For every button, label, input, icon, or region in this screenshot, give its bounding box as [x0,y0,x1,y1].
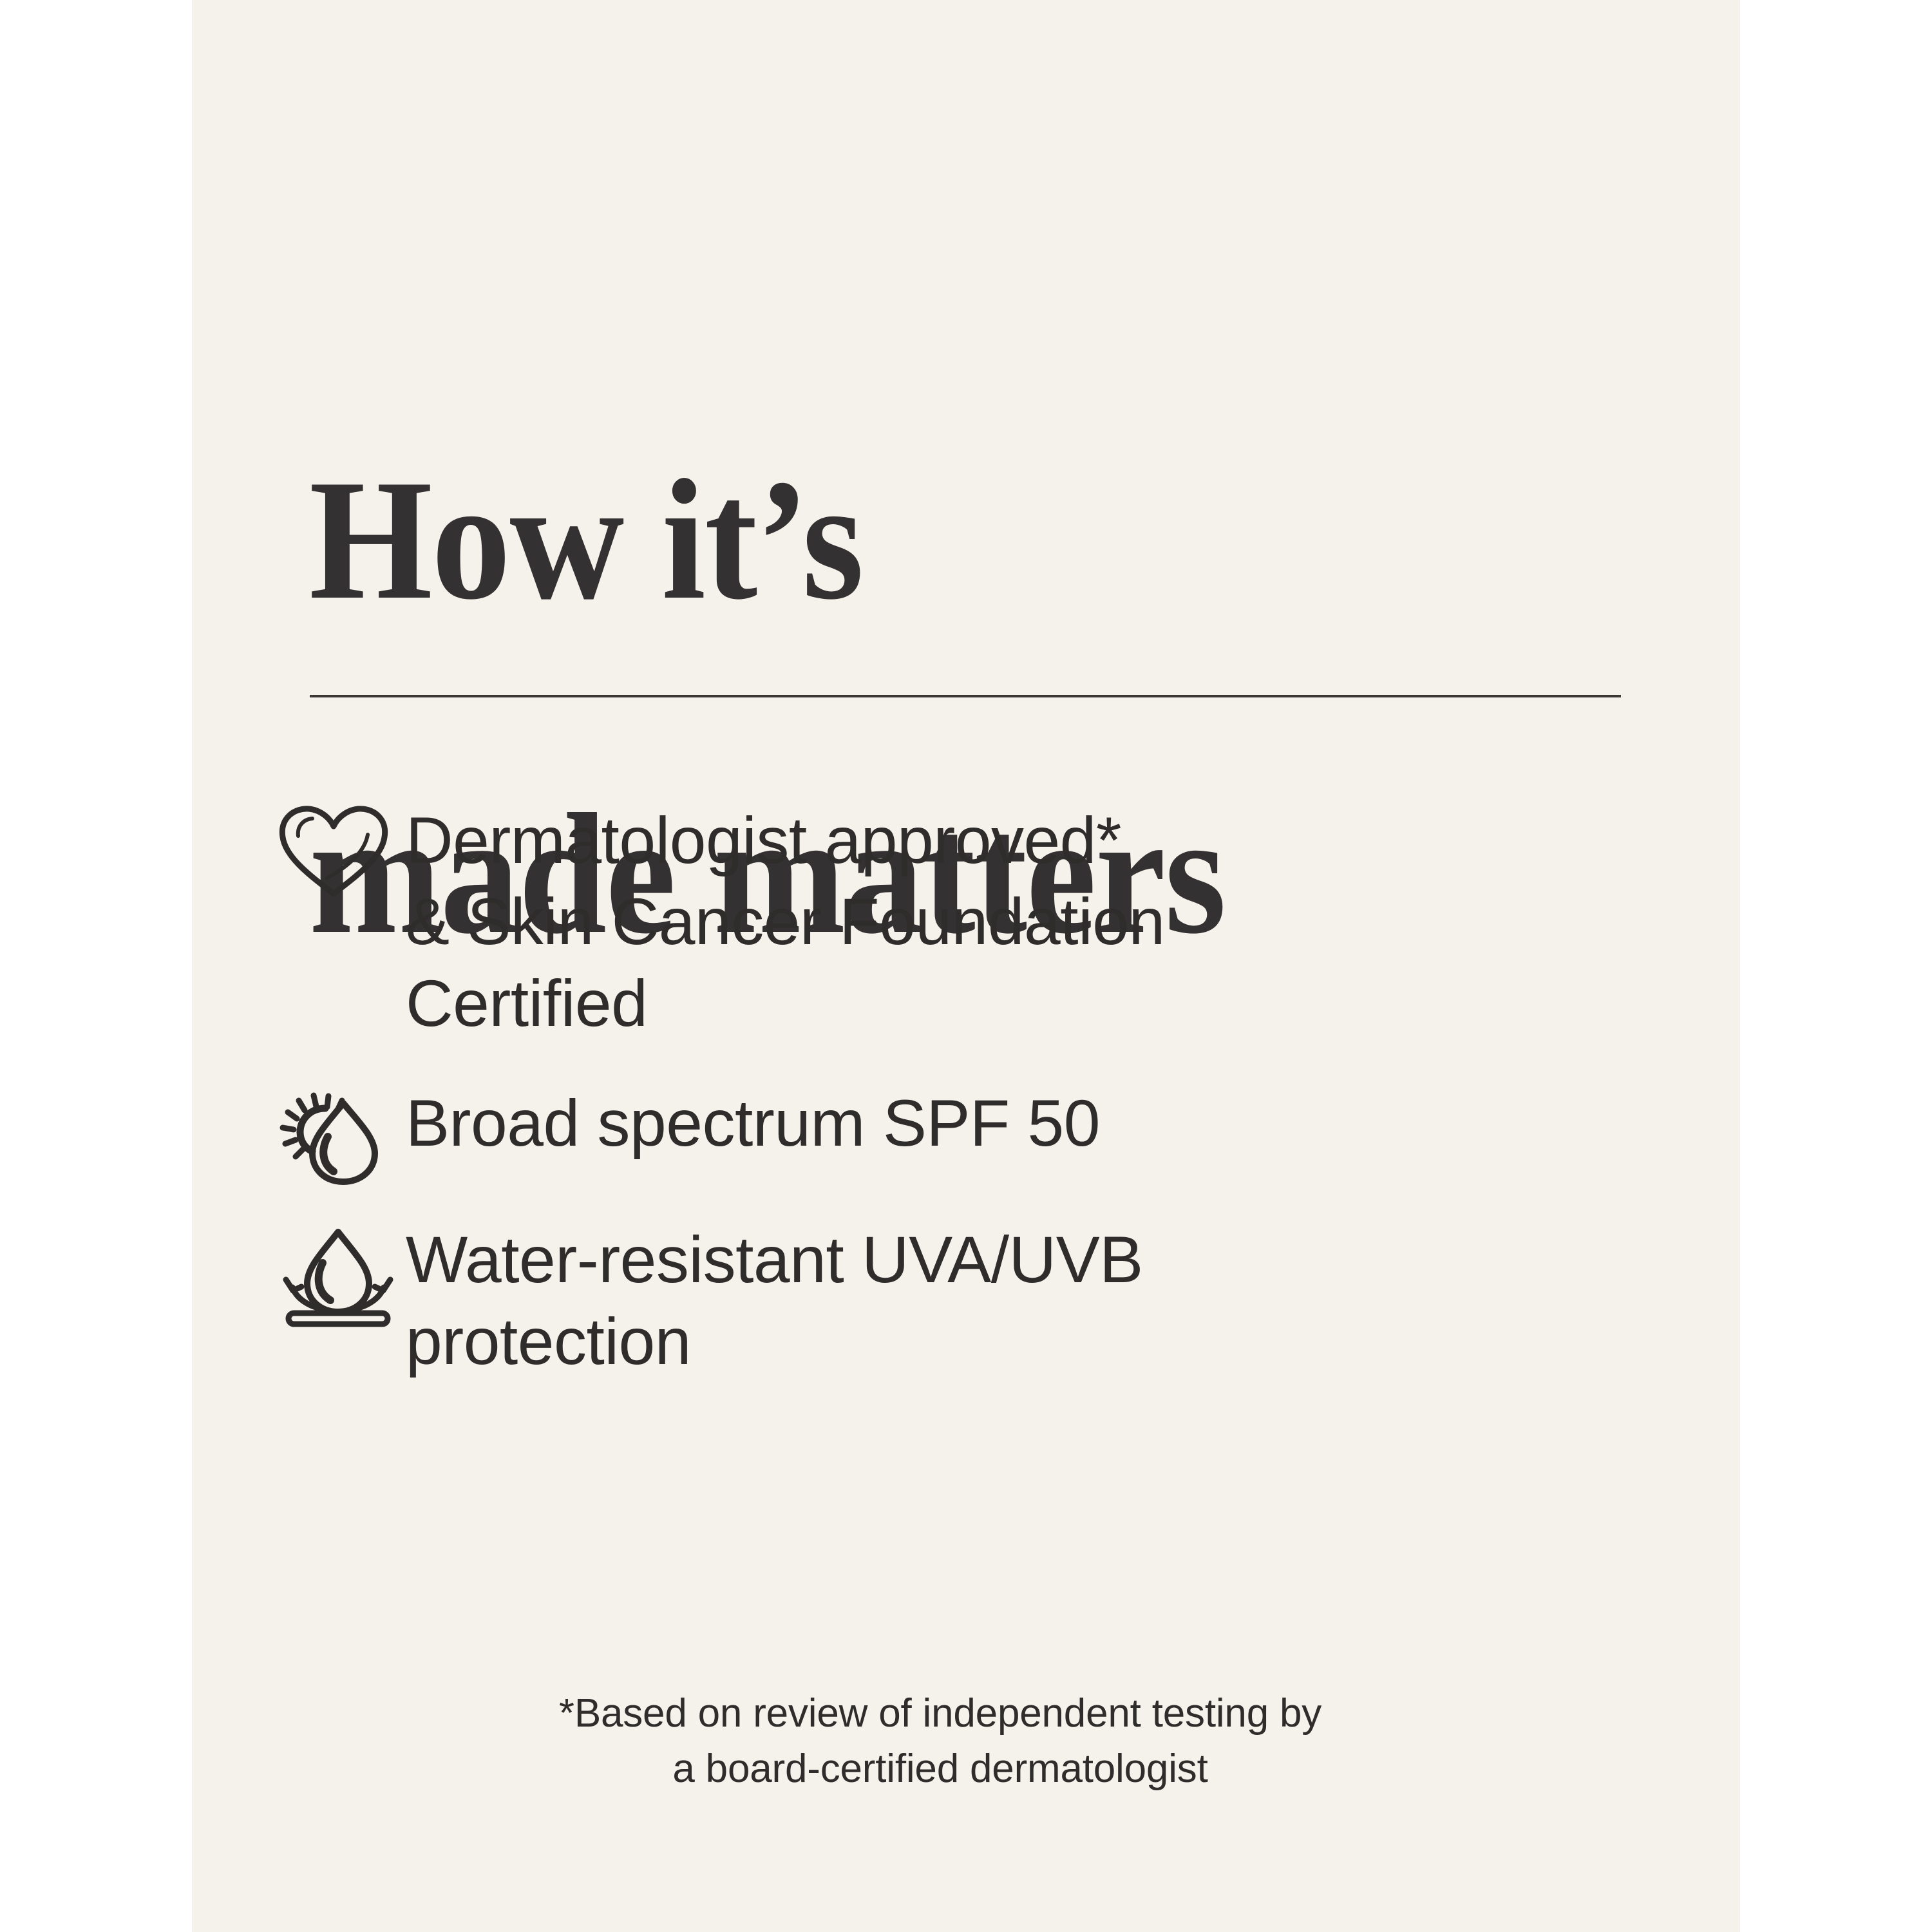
horizontal-divider [310,695,1621,697]
list-item: Water-resistant UVA/UVB protection [277,1218,1629,1382]
feature-list: Dermatologist approved* & Skin Cancer Fo… [277,799,1629,1382]
heart-icon [277,799,406,908]
headline-line-1: How it’s [309,456,1553,623]
feature-label: Broad spectrum SPF 50 [406,1081,1629,1164]
feature-label: Water-resistant UVA/UVB protection [406,1218,1629,1382]
product-claims-card: How it’s made matters Dermatologist appr… [0,0,1932,1932]
list-item: Dermatologist approved* & Skin Cancer Fo… [277,799,1629,1044]
feature-label: Dermatologist approved* & Skin Cancer Fo… [406,799,1629,1044]
sun-droplet-icon [277,1081,406,1191]
list-item: Broad spectrum SPF 50 [277,1081,1629,1191]
footnote: *Based on review of independent testing … [277,1686,1604,1796]
water-resistant-droplet-icon [277,1218,406,1327]
